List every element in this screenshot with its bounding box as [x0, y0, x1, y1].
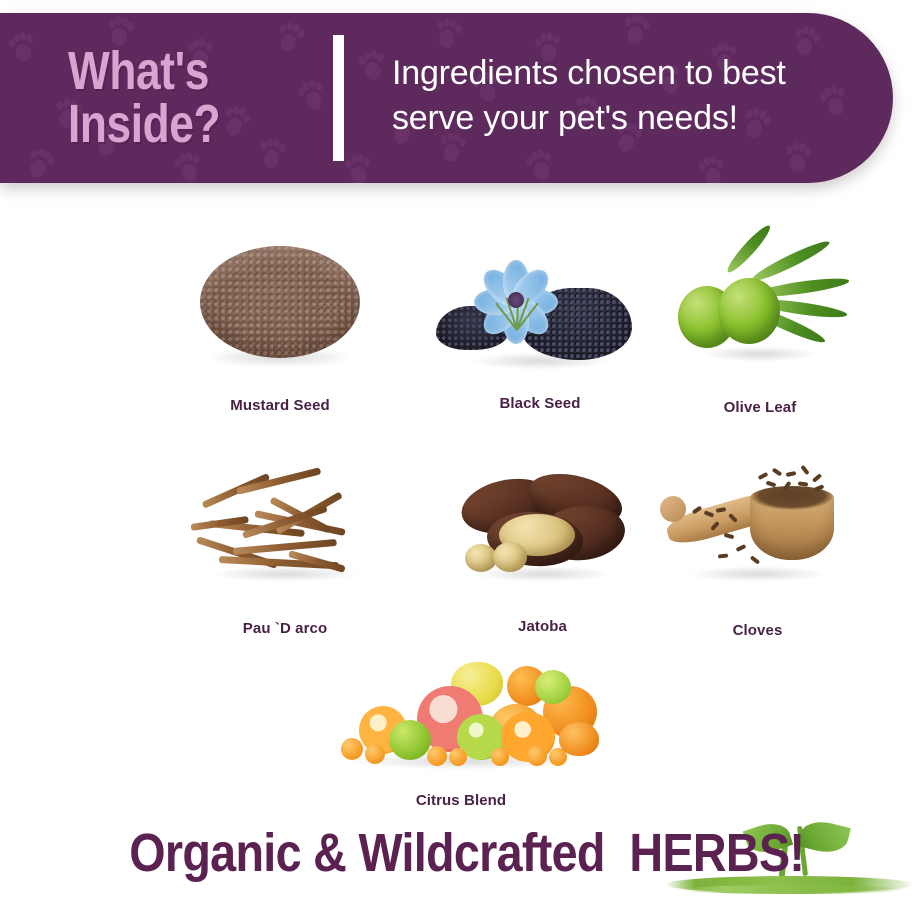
ingredient-label: Jatoba: [435, 618, 650, 635]
bowl-rim: [750, 486, 834, 510]
lime: [389, 720, 431, 760]
footer-headline: Organic & Wildcrafted HERBS!: [0, 822, 922, 884]
ingredient-item-mustard-seed: Mustard Seed: [130, 240, 430, 420]
ingredient-item-black-seed: Black Seed: [430, 240, 650, 420]
ingredient-infographic: What's Inside? Ingredients chosen to bes…: [0, 0, 922, 906]
ingredient-label: Cloves: [650, 622, 865, 639]
mustard-seed-mound: [200, 246, 360, 358]
banner-subtitle: Ingredients chosen to best serve your pe…: [392, 51, 786, 141]
mustard-seed-pile-image: [180, 240, 380, 375]
nigella-flower: [458, 254, 574, 350]
ingredient-label: Citrus Blend: [311, 792, 611, 809]
header-banner: What's Inside? Ingredients chosen to bes…: [0, 13, 893, 183]
jatoba-pod-image: [443, 462, 643, 592]
olive-fruit: [718, 278, 780, 344]
lime-half: [535, 670, 571, 704]
ingredient-row-3: Citrus Blend: [0, 660, 922, 810]
pau-d-arco-bark-image: [185, 462, 385, 592]
ingredient-row-2: Pau `D arco Jatoba: [0, 462, 922, 642]
image-shadow: [473, 566, 613, 582]
banner-divider: [333, 35, 344, 161]
footer-headline-area: Organic & Wildcrafted HERBS!: [0, 822, 922, 906]
ingredient-row-1: Mustard Seed: [0, 240, 922, 420]
jatoba-pulp-piece: [465, 544, 497, 572]
kumquat: [549, 748, 567, 766]
black-seed-flower-image: [440, 240, 640, 375]
ingredient-label: Mustard Seed: [130, 397, 430, 414]
ingredient-label: Black Seed: [430, 395, 650, 412]
ingredient-item-olive-leaf: Olive Leaf: [650, 240, 870, 420]
footer-headline-part2: HERBS!: [629, 822, 804, 884]
kumquat: [341, 738, 363, 760]
cloves-bowl-image: [658, 462, 858, 592]
jatoba-pulp-piece: [493, 542, 527, 572]
ingredient-item-jatoba: Jatoba: [435, 462, 650, 642]
olive-leaf-image: [660, 240, 860, 375]
ingredient-label: Pau `D arco: [135, 620, 435, 637]
kumquat: [427, 746, 447, 766]
ingredient-item-cloves: Cloves: [650, 462, 865, 642]
citrus-fruit-pile-image: [321, 660, 601, 770]
kumquat: [491, 748, 509, 766]
footer-headline-part1: Organic & Wildcrafted: [129, 822, 605, 884]
banner-title: What's Inside?: [68, 45, 220, 151]
ingredient-item-pau-d-arco: Pau `D arco: [135, 462, 435, 642]
grass-stroke-secondary: [680, 885, 905, 894]
kumquat: [365, 744, 385, 764]
flower-center: [508, 292, 524, 308]
ingredient-label: Olive Leaf: [650, 399, 870, 416]
image-shadow: [688, 566, 828, 582]
image-shadow: [700, 346, 820, 362]
banner-body: What's Inside? Ingredients chosen to bes…: [0, 13, 893, 183]
ingredient-item-citrus-blend: Citrus Blend: [311, 660, 611, 810]
kumquat: [449, 748, 467, 766]
scoop-handle: [660, 496, 686, 522]
kumquat: [527, 746, 547, 766]
olive-leaf-blade: [749, 237, 832, 285]
